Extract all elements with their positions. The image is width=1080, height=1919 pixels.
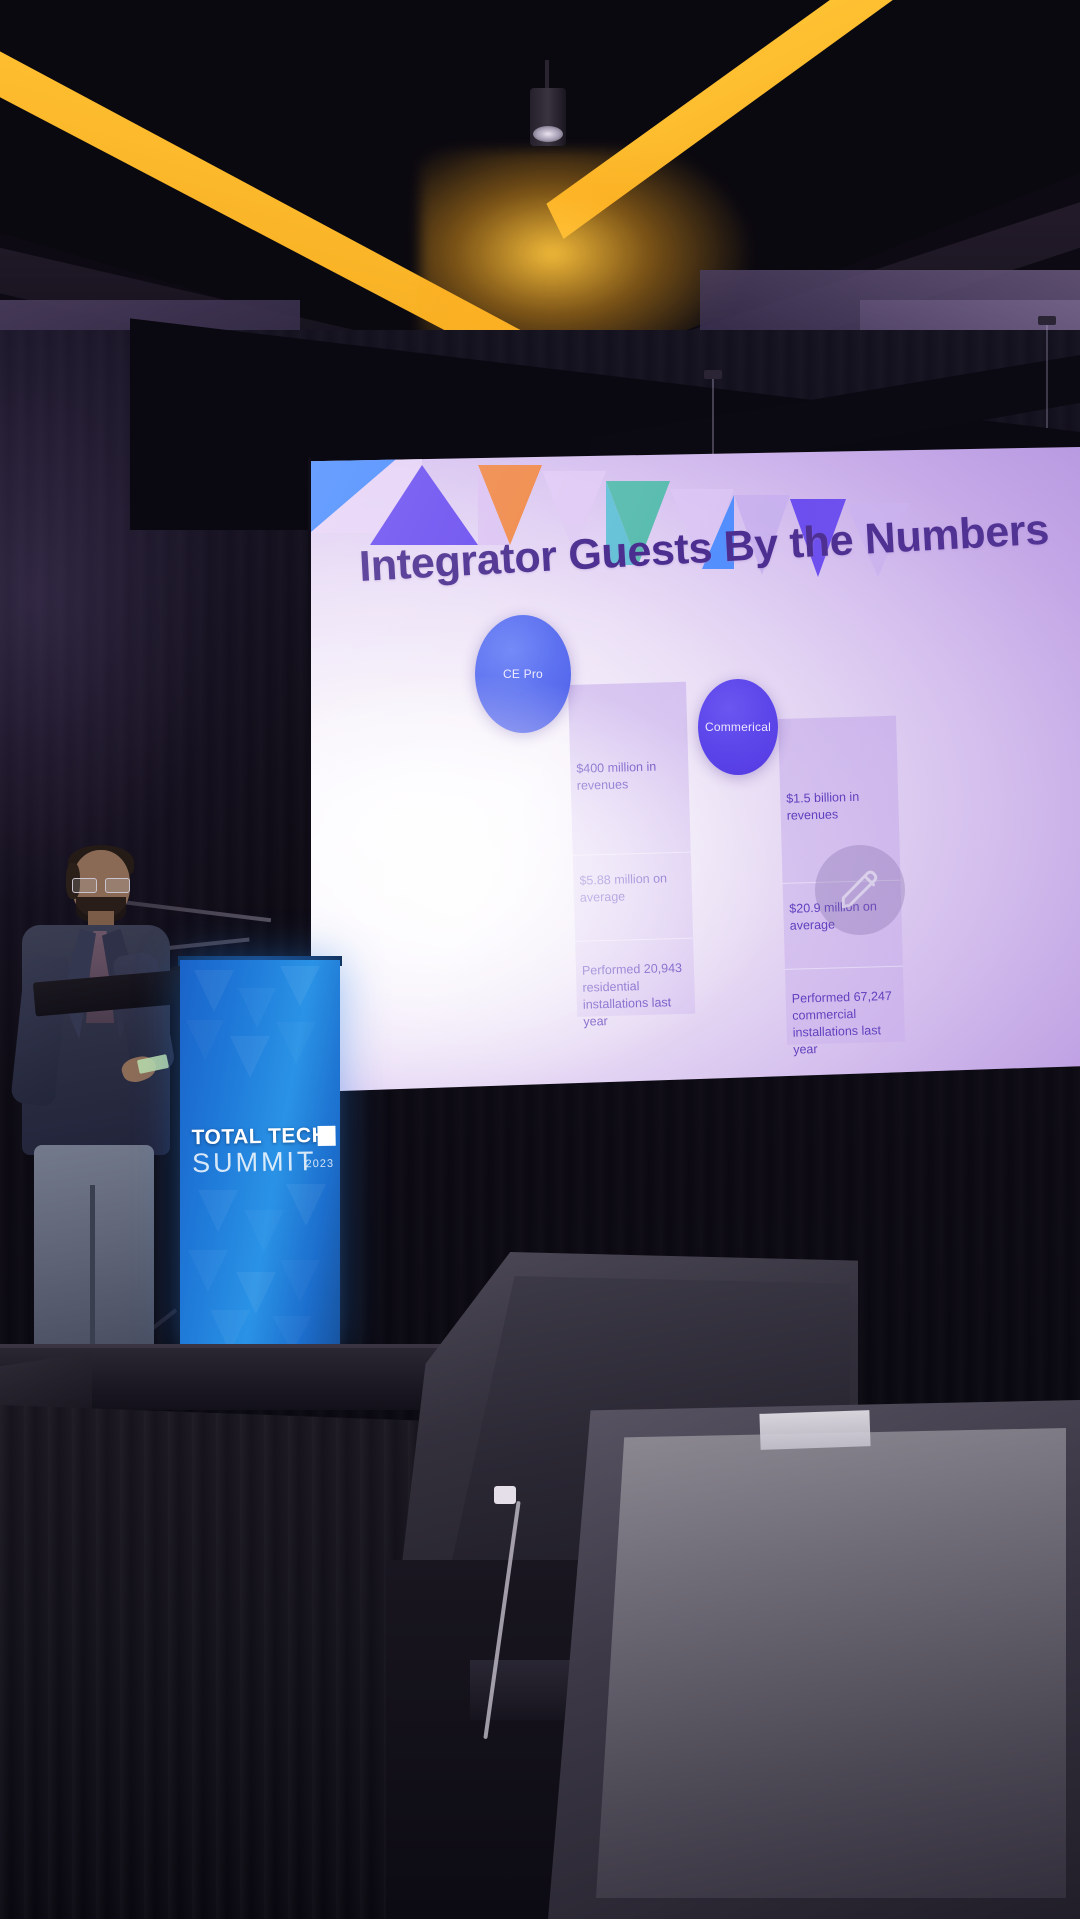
brand-badge-icon [317,1126,335,1146]
presentation-photo: Integrator Guests By the Numbers $400 mi… [0,0,1080,1919]
glasses-icon [72,878,128,891]
rigging-wire [1046,318,1048,428]
rigging-clamp [704,370,722,379]
projection-screen: Integrator Guests By the Numbers $400 mi… [310,447,1080,1092]
foreground-display-2-screen [596,1428,1066,1898]
projector-hotspot [310,677,770,1092]
rigging-clamp [1038,316,1056,325]
podium-brand-logo: TOTAL TECH SUMMIT 2023 [191,1124,332,1196]
trouser-seam [90,1185,95,1353]
paper-sheet [759,1410,870,1450]
power-plug [494,1486,516,1504]
pencil-icon [815,845,905,935]
slide-canvas: Integrator Guests By the Numbers $400 mi… [310,447,1080,1092]
speaker-presenter [10,845,190,1385]
brand-year: 2023 [305,1158,334,1170]
spotlight-lens-icon [533,126,563,142]
stat-cell: Performed 67,247 commercial installation… [785,970,905,1059]
